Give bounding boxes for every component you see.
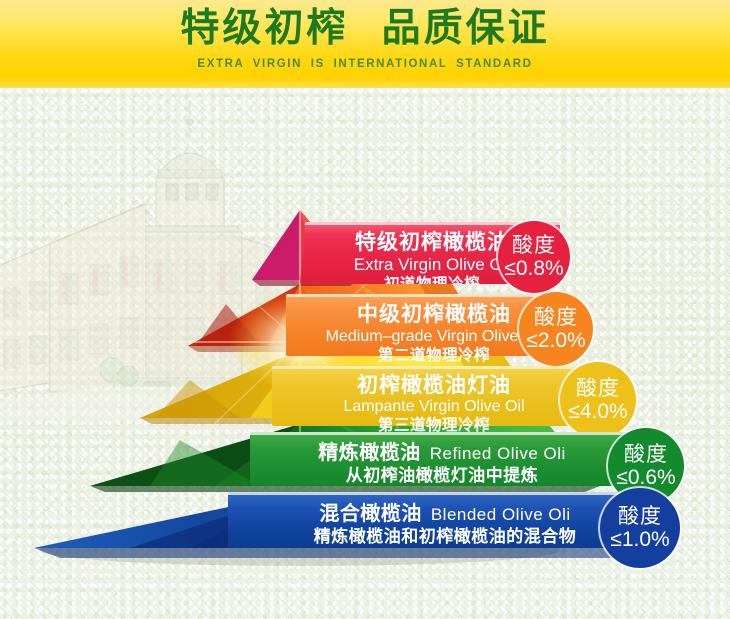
grade-bar-lampante-virgin[interactable]: 初榨橄榄油灯油 Lampante Virgin Olive Oil 第三道物理冷… <box>272 366 592 426</box>
grade-name-cn: 初榨橄榄油灯油 <box>284 373 584 397</box>
acidity-value: ≤0.6% <box>616 466 675 489</box>
acidity-label: 酸度 <box>534 306 578 329</box>
grade-name-cn: 精炼橄榄油 <box>318 440 421 464</box>
grade-bar-blended[interactable]: 混合橄榄油Blended Olive Oli 精炼橄榄油和初榨橄榄油的混合物 <box>228 492 658 548</box>
acidity-value: ≤2.0% <box>526 329 585 352</box>
acidity-value: ≤1.0% <box>610 528 669 551</box>
acidity-badge-blended[interactable]: 酸度 ≤1.0% <box>600 488 680 568</box>
header-banner: 特级初榨 品质保证 EXTRA VIRGIN IS INTERNATIONAL … <box>0 0 730 88</box>
acidity-badge-medium-grade-virgin[interactable]: 酸度 ≤2.0% <box>519 292 593 366</box>
acidity-value: ≤0.8% <box>504 257 563 280</box>
grade-name-en: Refined Olive Oli <box>430 444 566 463</box>
grade-name-en: Lampante Virgin Olive Oil <box>284 397 584 416</box>
grade-title-line: 精炼橄榄油Refined Olive Oli <box>262 440 622 466</box>
acidity-label: 酸度 <box>618 505 662 528</box>
grade-note-cn: 精炼橄榄油和初榨橄榄油的混合物 <box>240 527 650 548</box>
grade-name-cn: 混合橄榄油 <box>319 501 422 525</box>
grade-title-line: 混合橄榄油Blended Olive Oli <box>240 501 650 527</box>
grade-name-en: Blended Olive Oli <box>431 505 571 524</box>
page-subtitle: EXTRA VIRGIN IS INTERNATIONAL STANDARD <box>0 58 730 70</box>
page-title: 特级初榨 品质保证 <box>0 6 730 52</box>
acidity-label: 酸度 <box>576 377 620 400</box>
acidity-badge-extra-virgin[interactable]: 酸度 ≤0.8% <box>498 221 570 293</box>
acidity-label: 酸度 <box>624 443 668 466</box>
grade-bar-refined[interactable]: 精炼橄榄油Refined Olive Oli 从初榨油橄榄灯油中提炼 <box>250 432 630 486</box>
grade-note-cn: 从初榨油橄榄灯油中提炼 <box>262 466 622 487</box>
acidity-label: 酸度 <box>512 234 556 257</box>
acidity-value: ≤4.0% <box>568 400 627 423</box>
olive-oil-grade-pyramid-infographic: 特级初榨 品质保证 EXTRA VIRGIN IS INTERNATIONAL … <box>0 0 730 619</box>
acidity-badge-lampante-virgin[interactable]: 酸度 ≤4.0% <box>560 362 636 438</box>
